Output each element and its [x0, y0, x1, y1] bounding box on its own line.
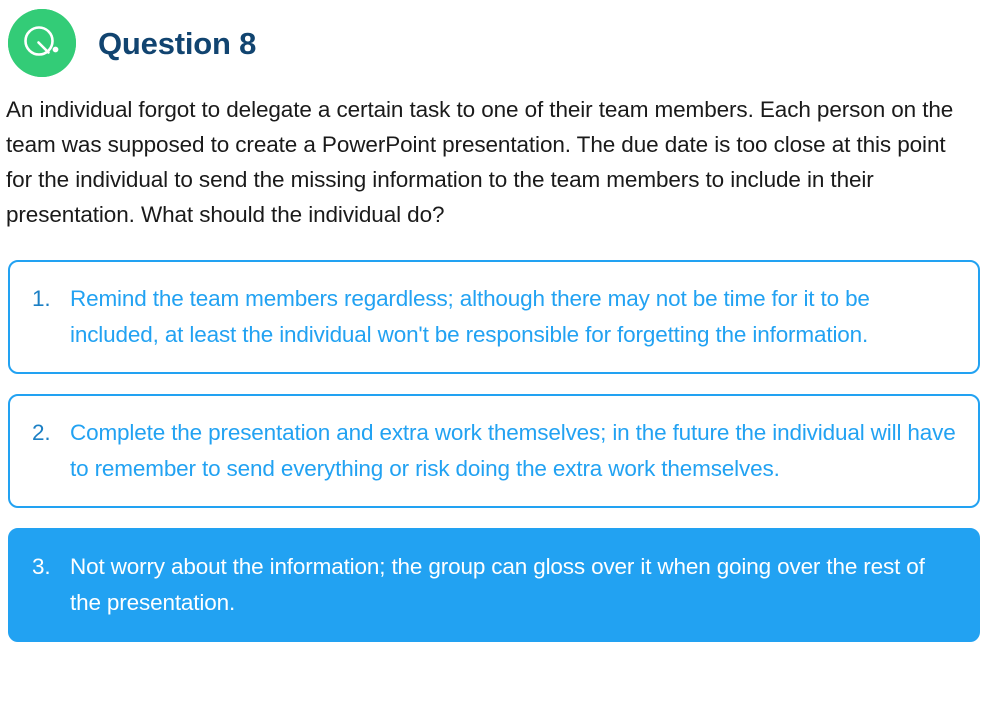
answer-option-1-number: 1. — [32, 281, 70, 317]
page-title: Question 8 — [98, 28, 256, 59]
question-mark-circle-icon — [8, 9, 76, 77]
answer-option-2-number: 2. — [32, 415, 70, 451]
answer-option-3-label: Not worry about the information; the gro… — [70, 549, 956, 621]
answer-options-list: 1. Remind the team members regardless; a… — [0, 260, 988, 642]
question-header: Question 8 — [0, 0, 988, 72]
answer-option-1[interactable]: 1. Remind the team members regardless; a… — [8, 260, 980, 374]
question-page: Question 8 An individual forgot to deleg… — [0, 0, 988, 706]
answer-option-3[interactable]: 3. Not worry about the information; the … — [8, 528, 980, 642]
answer-option-1-label: Remind the team members regardless; alth… — [70, 281, 956, 353]
answer-option-2-label: Complete the presentation and extra work… — [70, 415, 956, 487]
question-text: An individual forgot to delegate a certa… — [0, 92, 988, 232]
answer-option-3-number: 3. — [32, 549, 70, 585]
answer-option-2[interactable]: 2. Complete the presentation and extra w… — [8, 394, 980, 508]
